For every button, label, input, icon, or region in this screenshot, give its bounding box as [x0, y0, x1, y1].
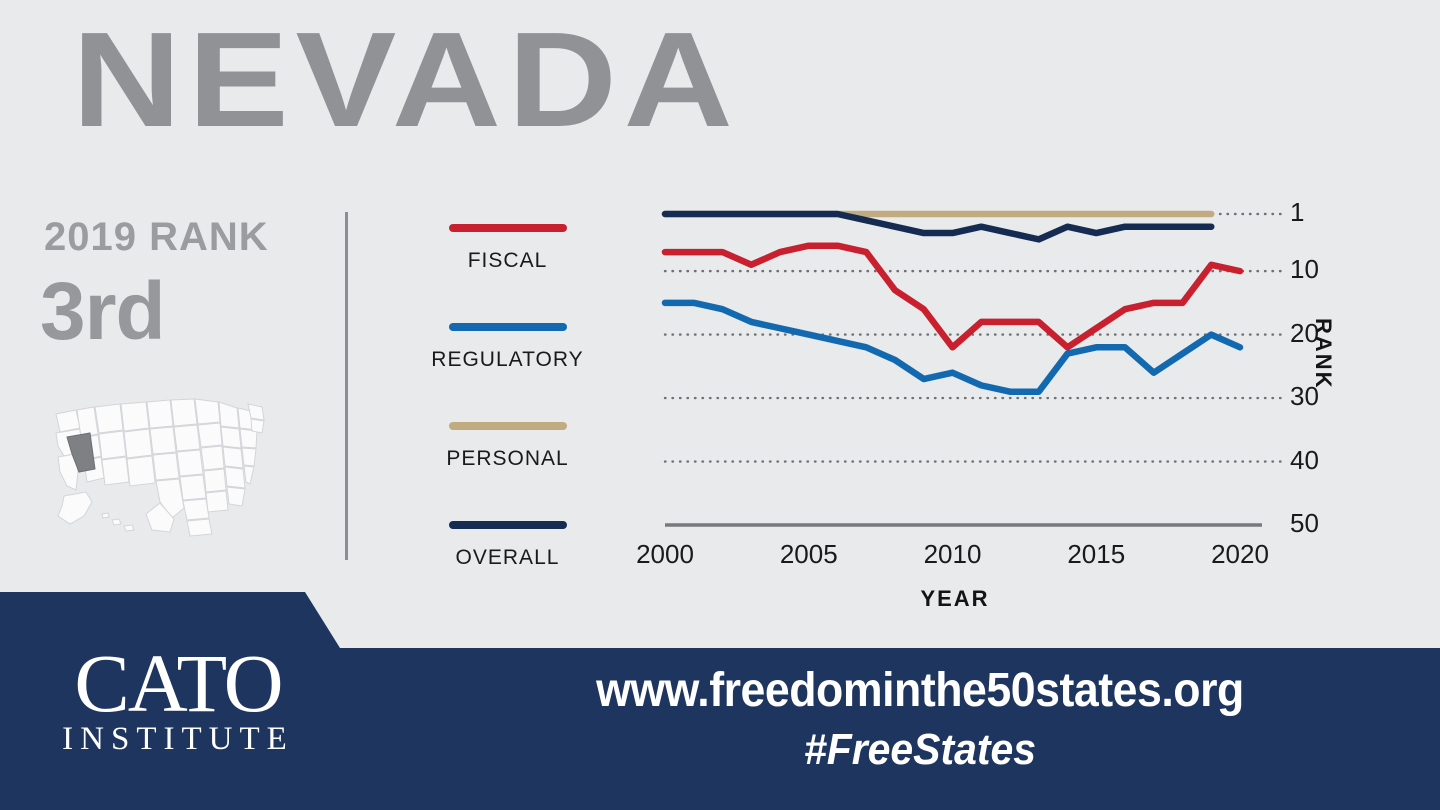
rank-line-chart [640, 190, 1340, 590]
us-map-icon [42, 390, 272, 542]
infographic-canvas: NEVADA 2019 RANK 3rd [0, 0, 1440, 810]
legend-item-regulatory[interactable]: REGULATORY [380, 323, 635, 372]
line-swatch-regulatory [449, 323, 567, 331]
legend-label-regulatory: REGULATORY [380, 348, 635, 372]
chart-series-group [665, 214, 1240, 392]
legend-label-overall: OVERALL [380, 546, 635, 570]
legend-item-personal[interactable]: PERSONAL [380, 422, 635, 471]
y-tick-label: 1 [1290, 197, 1304, 228]
y-tick-label: 40 [1290, 445, 1319, 476]
legend-label-personal: PERSONAL [380, 447, 635, 471]
x-tick-label: 2015 [1046, 539, 1146, 570]
footer-website-url[interactable]: www.freedominthe50states.org [436, 663, 1403, 718]
vertical-divider [345, 212, 348, 560]
x-tick-label: 2020 [1190, 539, 1290, 570]
page-title: NEVADA [72, 12, 740, 147]
series-line-fiscal [665, 246, 1240, 348]
line-swatch-personal [449, 422, 567, 430]
line-swatch-overall [449, 521, 567, 529]
cato-institute-logo: CATO INSTITUTE [38, 645, 318, 756]
series-line-overall [665, 214, 1211, 239]
line-swatch-fiscal [449, 224, 567, 232]
legend-label-fiscal: FISCAL [380, 249, 635, 273]
chart-gridlines [665, 214, 1282, 462]
cato-logo-subtitle: INSTITUTE [38, 723, 318, 756]
x-tick-label: 2010 [903, 539, 1003, 570]
footer-hashtag[interactable]: #FreeStates [436, 725, 1403, 775]
y-tick-label: 50 [1290, 508, 1319, 539]
legend-item-fiscal[interactable]: FISCAL [380, 224, 635, 273]
cato-logo-word: CATO [38, 645, 318, 721]
rank-label: 2019 RANK [44, 215, 269, 260]
chart-y-axis-label: RANK [1310, 318, 1336, 390]
x-tick-label: 2005 [759, 539, 859, 570]
chart-x-axis-label: YEAR [640, 586, 1270, 612]
chart-legend: FISCAL REGULATORY PERSONAL OVERALL [380, 212, 635, 577]
legend-item-overall[interactable]: OVERALL [380, 521, 635, 570]
y-tick-label: 10 [1290, 254, 1319, 285]
rank-value: 3rd [40, 265, 165, 359]
x-tick-label: 2000 [615, 539, 715, 570]
